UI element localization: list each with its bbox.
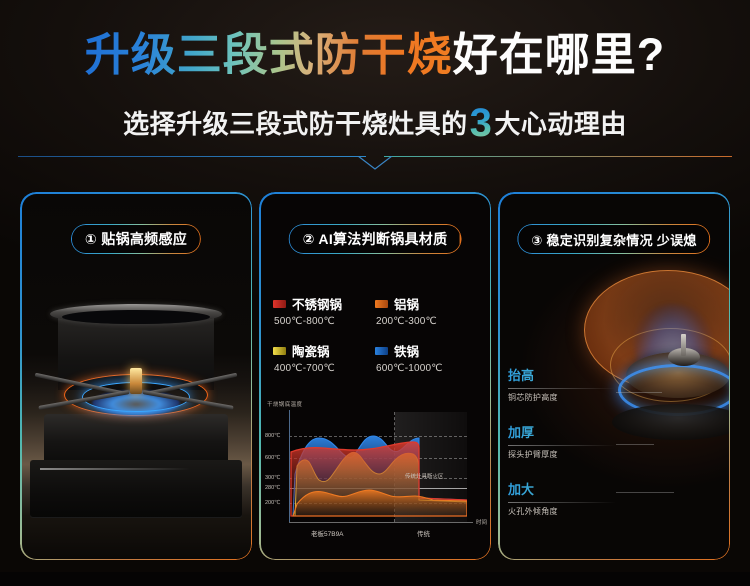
card3-pill-label: ③ 稳定识别复杂情况 少误熄 bbox=[531, 230, 696, 249]
feature-callouts: 抬高 铜芯防护高度 加厚 探头护臂厚度 加大 火孔外倾角度 bbox=[508, 368, 628, 539]
legend-swatch-iron bbox=[375, 347, 388, 355]
feature-card-1[interactable]: ① 贴锅高频感应 bbox=[20, 192, 252, 560]
chart-annotation: 传统灶具断火区 bbox=[405, 472, 444, 480]
feature-card-3[interactable]: 抬高 铜芯防护高度 加厚 探头护臂厚度 加大 火孔外倾角度 ③ 稳定识别复杂情况… bbox=[498, 192, 730, 560]
page-header: 升级三段式防干烧好在哪里? 选择升级三段式防干烧灶具的3大心动理由 bbox=[0, 0, 750, 172]
callout-title-thicken: 加厚 bbox=[508, 425, 628, 441]
legend-label-iron: 铁锅 bbox=[394, 341, 419, 360]
chart-ytick-300: 300℃ bbox=[265, 475, 280, 481]
divider-right-line bbox=[384, 156, 732, 157]
chart-plot-area bbox=[289, 412, 467, 520]
card3-pill[interactable]: ③ 稳定识别复杂情况 少误熄 bbox=[517, 224, 710, 254]
title-plain-text: 好在哪里? bbox=[453, 29, 666, 80]
pot-inner bbox=[62, 310, 210, 324]
chart-ytick-800: 800℃ bbox=[265, 433, 280, 439]
subtitle-number: 3 bbox=[468, 101, 495, 145]
legend-swatch-aluminum bbox=[375, 300, 388, 308]
legend-label-stainless: 不锈钢锅 bbox=[292, 294, 342, 313]
callout-rule bbox=[508, 388, 616, 389]
callout-raise: 抬高 铜芯防护高度 bbox=[508, 368, 628, 403]
legend-swatch-ceramic bbox=[273, 347, 286, 355]
header-divider bbox=[18, 156, 732, 170]
callout-thicken: 加厚 探头护臂厚度 bbox=[508, 425, 628, 460]
callout-desc-enlarge: 火孔外倾角度 bbox=[508, 506, 628, 517]
subtitle-before: 选择升级三段式防干烧灶具的 bbox=[123, 109, 468, 139]
legend-item-stainless: 不锈钢锅 500℃-800℃ bbox=[273, 294, 375, 327]
chart-x-axis bbox=[289, 522, 473, 523]
card1-pill-label: ① 贴锅高频感应 bbox=[85, 229, 187, 249]
divider-left-line bbox=[18, 156, 366, 157]
page-footer bbox=[0, 572, 750, 586]
legend-range-ceramic: 400℃-700℃ bbox=[274, 363, 375, 374]
material-legend: 不锈钢锅 500℃-800℃ 铝锅 200℃-300℃ 陶瓷锅 400℃-700… bbox=[273, 294, 477, 388]
feature-cards: ① 贴锅高频感应 ② AI算法判断锅具材质 不锈钢锅 500℃-800℃ 铝锅 … bbox=[0, 192, 750, 572]
chart-ytick-600: 600℃ bbox=[265, 455, 280, 461]
callout-rule bbox=[508, 445, 616, 446]
legend-item-iron: 铁锅 600℃-1000℃ bbox=[375, 341, 477, 374]
pot-support-grate bbox=[34, 378, 238, 416]
chart-y-title: 干烧锅底温度 bbox=[267, 400, 302, 408]
temperature-chart: 干烧锅底温度 800℃ 600℃ 300℃ 280℃ 200℃ bbox=[265, 400, 485, 545]
card1-pill[interactable]: ① 贴锅高频感应 bbox=[71, 224, 201, 254]
title-gradient-text: 升级三段式防干烧 bbox=[85, 29, 453, 80]
callout-desc-raise: 铜芯防护高度 bbox=[508, 392, 628, 403]
promo-page: 升级三段式防干烧好在哪里? 选择升级三段式防干烧灶具的3大心动理由 bbox=[0, 0, 750, 586]
legend-label-ceramic: 陶瓷锅 bbox=[292, 341, 330, 360]
subtitle-after: 大心动理由 bbox=[494, 109, 627, 139]
callout-desc-thicken: 探头护臂厚度 bbox=[508, 449, 628, 460]
chart-ytick-280: 280℃ bbox=[265, 485, 280, 491]
cooktop-highlight bbox=[40, 468, 190, 470]
series-aluminum bbox=[293, 490, 467, 516]
page-title: 升级三段式防干烧好在哪里? bbox=[0, 26, 750, 84]
legend-range-stainless: 500℃-800℃ bbox=[274, 316, 375, 327]
card2-pill-label: ② AI算法判断锅具材质 bbox=[303, 229, 448, 249]
page-subtitle: 选择升级三段式防干烧灶具的3大心动理由 bbox=[0, 104, 750, 141]
callout-rule bbox=[508, 502, 616, 503]
chart-xlabel-section-1: 老板57B9A bbox=[311, 528, 344, 538]
callout-title-enlarge: 加大 bbox=[508, 482, 628, 498]
legend-row: 不锈钢锅 500℃-800℃ 铝锅 200℃-300℃ bbox=[273, 294, 477, 327]
legend-item-ceramic: 陶瓷锅 400℃-700℃ bbox=[273, 341, 375, 374]
legend-range-aluminum: 200℃-300℃ bbox=[376, 316, 477, 327]
legend-item-aluminum: 铝锅 200℃-300℃ bbox=[375, 294, 477, 327]
card2-pill[interactable]: ② AI算法判断锅具材质 bbox=[289, 224, 462, 254]
callout-enlarge: 加大 火孔外倾角度 bbox=[508, 482, 628, 517]
legend-row: 陶瓷锅 400℃-700℃ 铁锅 600℃-1000℃ bbox=[273, 341, 477, 374]
callout-title-raise: 抬高 bbox=[508, 368, 628, 384]
legend-range-iron: 600℃-1000℃ bbox=[376, 363, 477, 374]
legend-label-aluminum: 铝锅 bbox=[394, 294, 419, 313]
chart-xaxis-end-label: 时间 bbox=[476, 518, 487, 526]
legend-swatch-stainless bbox=[273, 300, 286, 308]
chevron-down-icon bbox=[358, 156, 392, 170]
chart-xlabel-section-2: 传统 bbox=[417, 528, 430, 538]
chart-ytick-200: 200℃ bbox=[265, 500, 280, 506]
feature-card-2[interactable]: ② AI算法判断锅具材质 不锈钢锅 500℃-800℃ 铝锅 200℃-300℃… bbox=[259, 192, 491, 560]
burner-stem bbox=[681, 334, 686, 356]
